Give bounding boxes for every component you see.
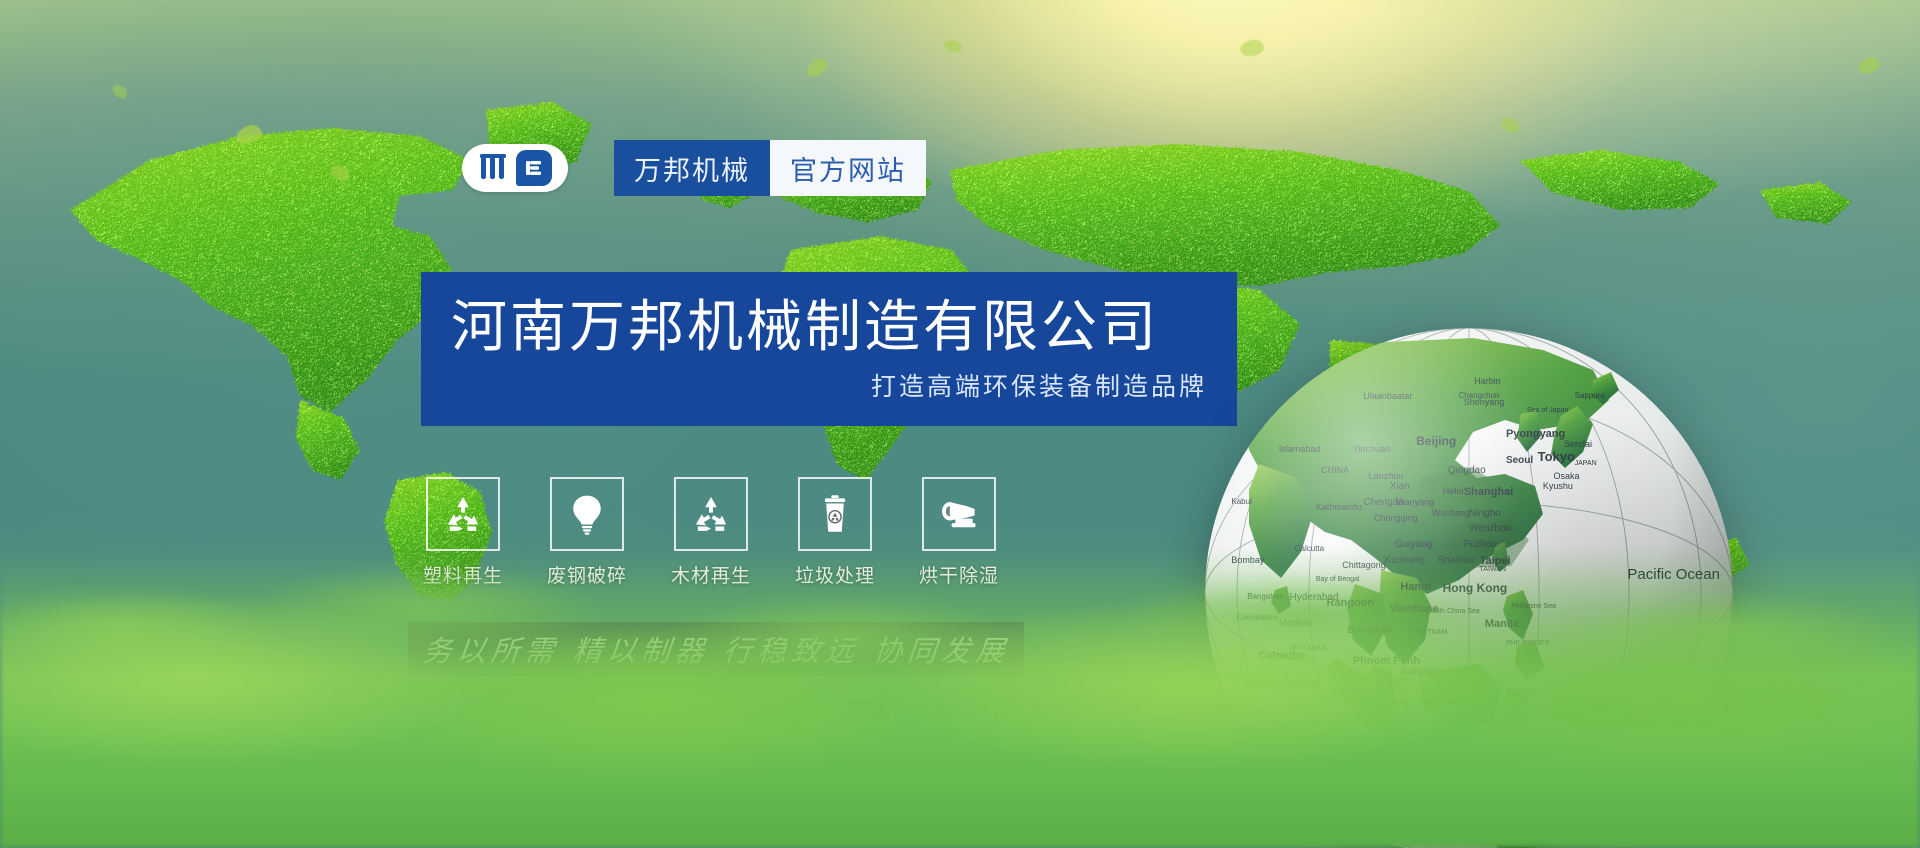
page-title: 河南万邦机械制造有限公司 bbox=[451, 297, 1207, 360]
wanbang-logo[interactable] bbox=[462, 144, 568, 192]
tab-official-site-label: 官方网站 bbox=[790, 149, 906, 188]
grass-foreground bbox=[0, 548, 1920, 848]
site-header: 万邦机械 官方网站 bbox=[462, 140, 926, 196]
header-tabs: 万邦机械 官方网站 bbox=[614, 140, 926, 196]
w-letter-icon bbox=[479, 153, 511, 183]
speech-bubble-b-icon bbox=[516, 150, 552, 186]
title-banner: 河南万邦机械制造有限公司 打造高端环保装备制造品牌 bbox=[421, 272, 1237, 426]
tab-official-site[interactable]: 官方网站 bbox=[770, 140, 926, 196]
hero-banner-stage: 万邦机械 官方网站 河南万邦机械制造有限公司 打造高端环保装备制造品牌 bbox=[0, 0, 1920, 848]
tab-company-name[interactable]: 万邦机械 bbox=[614, 140, 770, 196]
page-subtitle: 打造高端环保装备制造品牌 bbox=[451, 367, 1207, 403]
tab-company-name-label: 万邦机械 bbox=[634, 149, 750, 188]
